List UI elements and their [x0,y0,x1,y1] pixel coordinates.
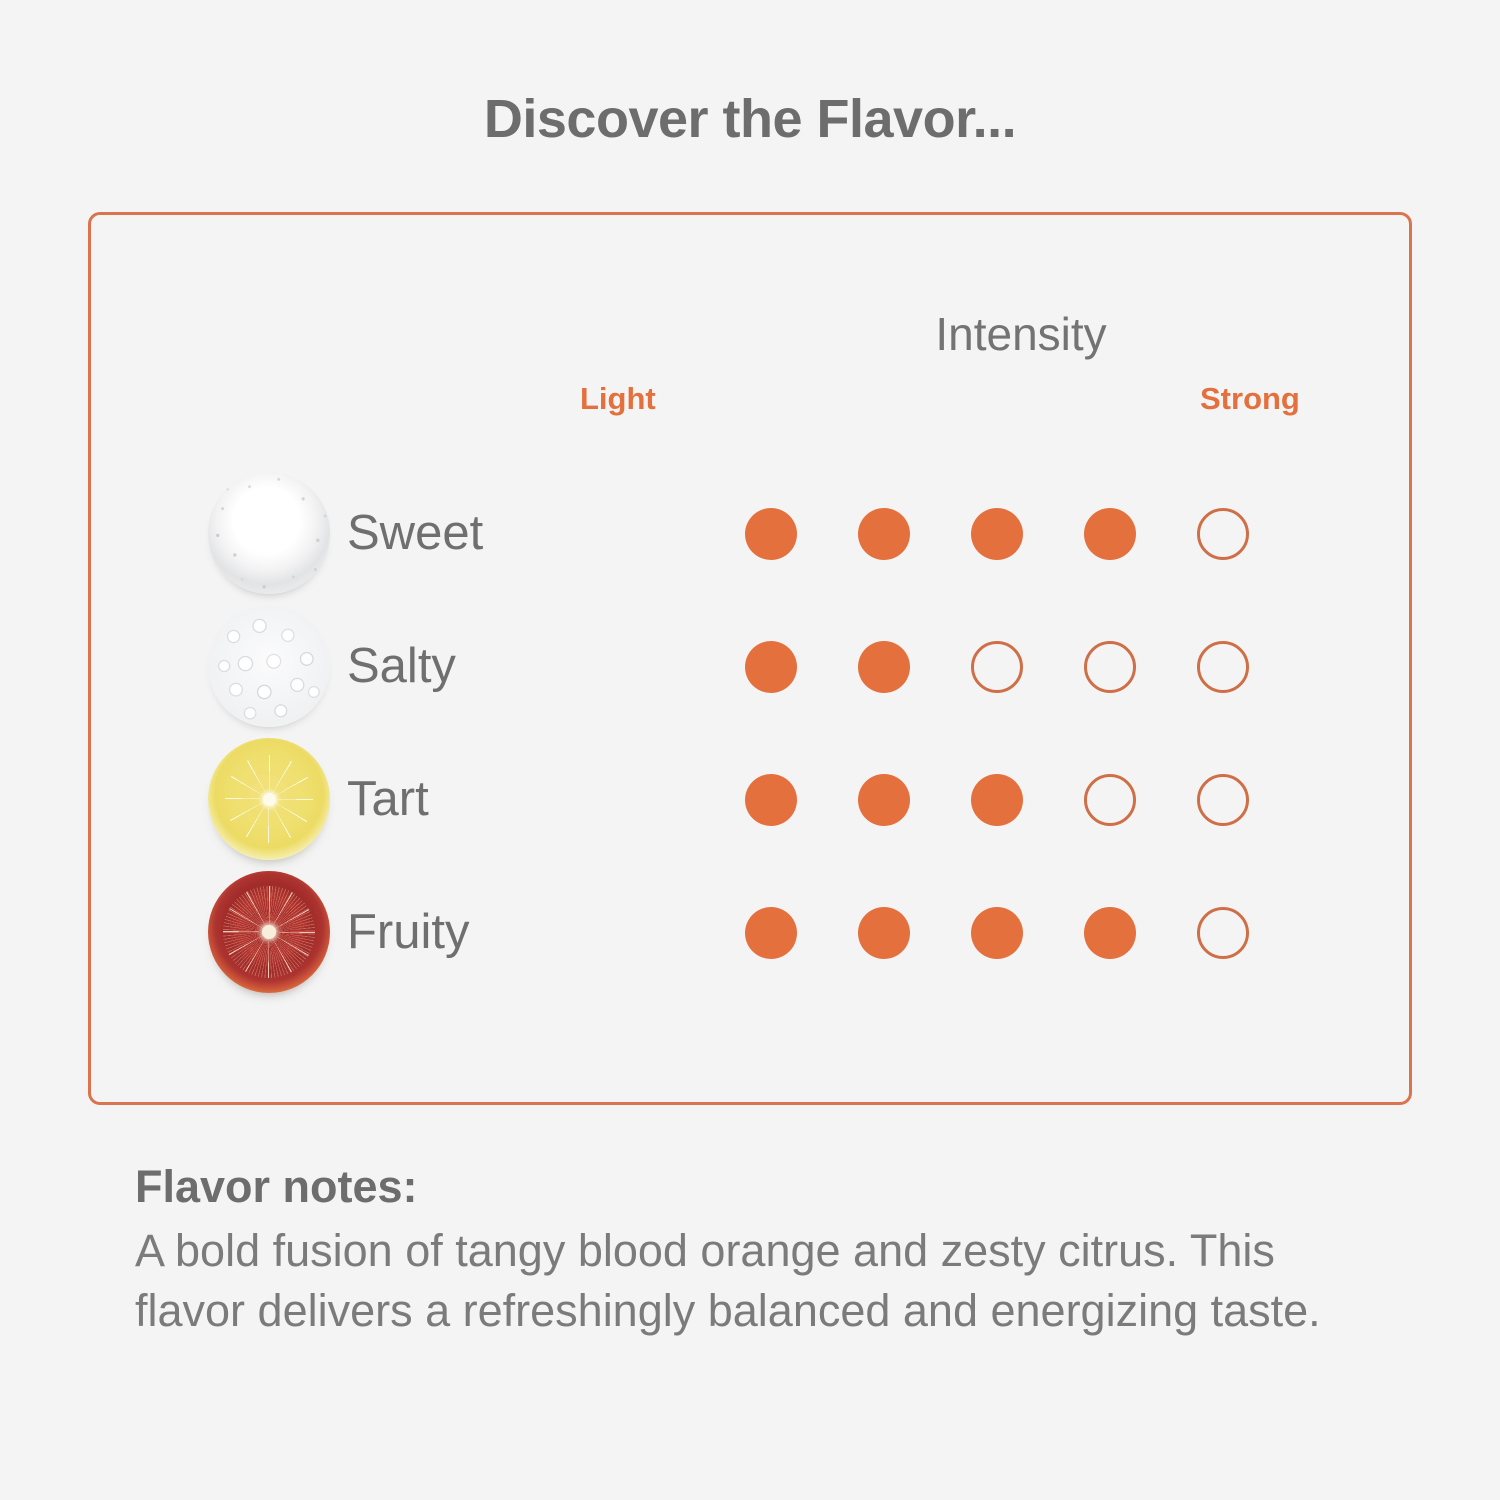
intensity-dot-filled[interactable] [971,907,1023,959]
intensity-dot-track [745,600,1249,733]
flavor-row: Tart [91,733,1409,866]
intensity-dot-empty[interactable] [1197,774,1249,826]
flavor-row: Sweet [91,467,1409,600]
scale-label-light: Light [580,383,656,414]
intensity-dot-filled[interactable] [1084,508,1136,560]
flavor-name-label: Sweet [347,467,483,600]
intensity-dot-track [745,866,1249,999]
intensity-dot-empty[interactable] [1084,774,1136,826]
scale-label-strong: Strong [1200,383,1300,414]
intensity-dot-filled[interactable] [745,774,797,826]
intensity-dot-filled[interactable] [971,508,1023,560]
flavor-name-label: Salty [347,600,456,733]
intensity-dot-filled[interactable] [858,508,910,560]
flavor-row: Fruity [91,866,1409,999]
lemon-slice-icon [208,738,330,860]
intensity-dot-empty[interactable] [1084,641,1136,693]
flavor-notes: Flavor notes: A bold fusion of tangy blo… [135,1160,1425,1341]
sugar-mound-icon [208,472,330,594]
flavor-rows: SweetSaltyTartFruity [91,467,1409,999]
intensity-dot-filled[interactable] [858,907,910,959]
intensity-dot-empty[interactable] [1197,641,1249,693]
flavor-notes-body: A bold fusion of tangy blood orange and … [135,1221,1385,1341]
flavor-name-label: Fruity [347,866,470,999]
intensity-dot-filled[interactable] [971,774,1023,826]
flavor-name-label: Tart [347,733,429,866]
page-title: Discover the Flavor... [0,92,1500,146]
flavor-row: Salty [91,600,1409,733]
flavor-profile-card: Intensity Light Strong SweetSaltyTartFru… [88,212,1412,1105]
blood-orange-slice-icon [208,871,330,993]
intensity-dot-filled[interactable] [858,774,910,826]
intensity-dot-filled[interactable] [745,508,797,560]
salt-crystals-icon [208,605,330,727]
intensity-dot-track [745,467,1249,600]
intensity-dot-filled[interactable] [858,641,910,693]
intensity-dot-empty[interactable] [1197,508,1249,560]
intensity-dot-filled[interactable] [745,907,797,959]
intensity-dot-filled[interactable] [745,641,797,693]
intensity-dot-empty[interactable] [971,641,1023,693]
intensity-dot-track [745,733,1249,866]
intensity-dot-filled[interactable] [1084,907,1136,959]
flavor-notes-heading: Flavor notes: [135,1160,1425,1215]
intensity-dot-empty[interactable] [1197,907,1249,959]
intensity-heading: Intensity [771,311,1271,357]
